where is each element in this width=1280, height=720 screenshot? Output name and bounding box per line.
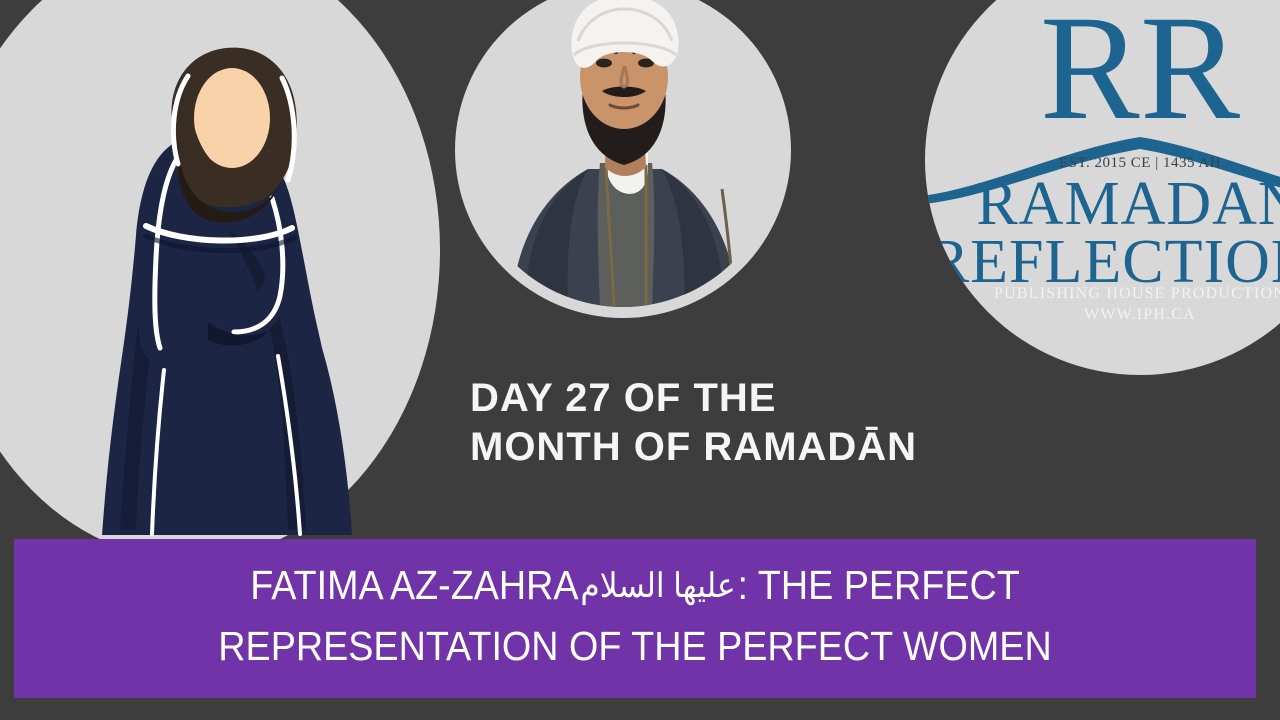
topic-banner-text: FATIMA AZ-ZAHRAعليها السلام: THE PERFECT… [14, 555, 1256, 676]
logo-wordmark-ramadan: RAMADAN [976, 173, 1280, 235]
topic-title-suffix: : THE PERFECT [738, 562, 1020, 608]
day-title-line-1: DAY 27 OF THE [470, 374, 1030, 423]
video-thumbnail-canvas: ЯR EST. 2015 CE | 1435 AH RAMADAN REFLEC… [0, 0, 1280, 720]
topic-banner: FATIMA AZ-ZAHRAعليها السلام: THE PERFECT… [14, 539, 1256, 698]
day-title: DAY 27 OF THE MONTH OF RAMADĀN [470, 374, 1030, 472]
speaker-portrait-photo [466, 0, 780, 307]
day-title-line-2: MONTH OF RAMADĀN [470, 423, 1030, 472]
ramadan-reflections-logo: ЯR EST. 2015 CE | 1435 AH RAMADAN REFLEC… [925, 0, 1280, 375]
topic-title-name: FATIMA AZ-ZAHRA [250, 562, 578, 608]
logo-tagline-website: WWW.IPH.CA [925, 306, 1280, 324]
topic-banner-line-1: FATIMA AZ-ZAHRAعليها السلام: THE PERFECT [64, 555, 1207, 616]
muslim-woman-illustration [60, 30, 390, 550]
logo-tagline-publisher: PUBLISHING HOUSE PRODUCTION [925, 285, 1280, 303]
logo-wordmark-reflections: REFLECTIONS [928, 231, 1280, 293]
topic-banner-line-2: REPRESENTATION OF THE PERFECT WOMEN [64, 616, 1207, 677]
honorific-glyph: عليها السلام [579, 561, 738, 611]
